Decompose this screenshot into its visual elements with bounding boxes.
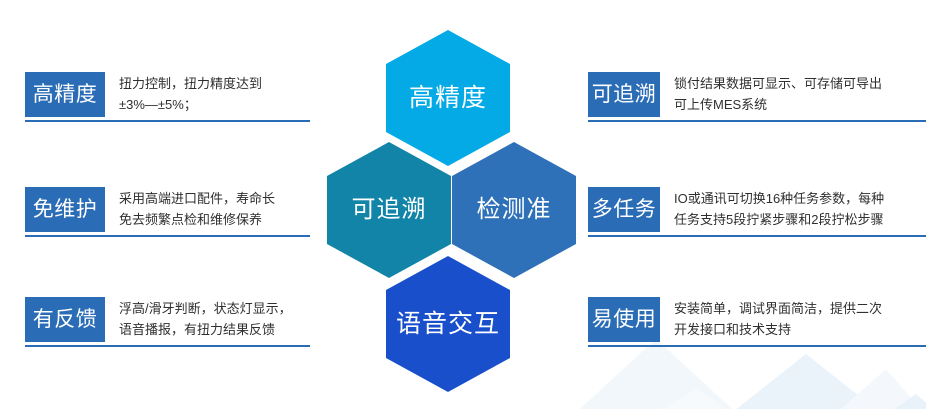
- feature-left-3: 有反馈 浮高/滑牙判断，状态灯显示， 语音播报，有扭力结果反馈: [25, 297, 310, 347]
- feature-right-3: 易使用 安装简单，调试界面简洁，提供二次 开发接口和技术支持: [588, 297, 926, 347]
- hexagon-label-traceable: 可追溯: [352, 198, 427, 222]
- hexagon-accurate-test: 检测准: [452, 142, 576, 278]
- feature-tag-traceable: 可追溯: [588, 72, 660, 117]
- feature-underline: [25, 235, 310, 237]
- feature-desc-multitask: IO或通讯可切换16种任务参数，每种 任务支持5段拧紧步骤和2段拧松步骤: [674, 188, 884, 230]
- feature-right-2: 多任务 IO或通讯可切换16种任务参数，每种 任务支持5段拧紧步骤和2段拧松步骤: [588, 187, 926, 237]
- feature-right-1: 可追溯 锁付结果数据可显示、可存储可导出 可上传MES系统: [588, 72, 926, 122]
- feature-tag-multitask: 多任务: [588, 187, 660, 232]
- feature-tag-feedback: 有反馈: [25, 297, 105, 342]
- feature-underline: [588, 120, 926, 122]
- feature-desc-traceable: 锁付结果数据可显示、可存储可导出 可上传MES系统: [674, 73, 882, 115]
- hexagon-label-high-precision: 高精度: [409, 86, 487, 111]
- feature-tag-high-precision: 高精度: [25, 72, 105, 117]
- feature-underline: [588, 235, 926, 237]
- hexagon-label-accurate-test: 检测准: [477, 198, 552, 222]
- feature-underline: [25, 345, 310, 347]
- feature-underline: [25, 120, 310, 122]
- feature-underline: [588, 345, 926, 347]
- hexagon-high-precision: 高精度: [386, 30, 510, 166]
- feature-left-1: 高精度 扭力控制，扭力精度达到 ±3%—±5%；: [25, 72, 310, 122]
- hexagon-traceable: 可追溯: [327, 142, 451, 278]
- feature-tag-maintenance-free: 免维护: [25, 187, 105, 232]
- hexagon-voice-interaction: 语音交互: [386, 256, 510, 392]
- feature-left-2: 免维护 采用高端进口配件，寿命长 免去频繁点检和维修保养: [25, 187, 310, 237]
- infographic-canvas: 高精度 扭力控制，扭力精度达到 ±3%—±5%； 免维护 采用高端进口配件，寿命…: [0, 0, 926, 409]
- feature-desc-easy-to-use: 安装简单，调试界面简洁，提供二次 开发接口和技术支持: [674, 298, 882, 340]
- feature-desc-maintenance-free: 采用高端进口配件，寿命长 免去频繁点检和维修保养: [119, 188, 275, 230]
- feature-desc-high-precision: 扭力控制，扭力精度达到 ±3%—±5%；: [119, 73, 262, 115]
- hexagon-label-voice-interaction: 语音交互: [396, 312, 500, 337]
- feature-tag-easy-to-use: 易使用: [588, 297, 660, 342]
- feature-desc-feedback: 浮高/滑牙判断，状态灯显示， 语音播报，有扭力结果反馈: [119, 298, 292, 340]
